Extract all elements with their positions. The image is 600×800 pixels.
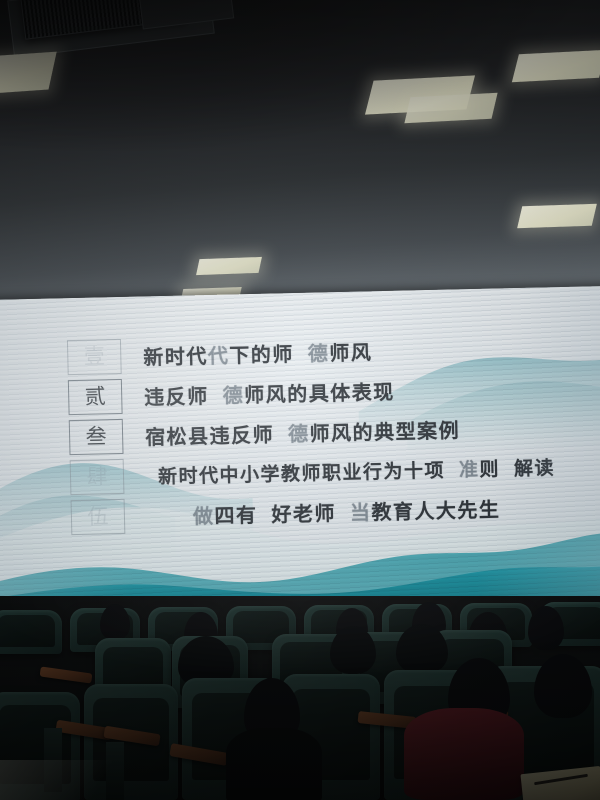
attendee-body [226, 728, 322, 800]
slide-item-number: 肆 [70, 459, 125, 495]
slide-item-number: 叁 [69, 419, 124, 455]
slide-item: 贰 违反师德师风的具体表现 [68, 373, 395, 415]
slide-item-text: 违反师德师风的具体表现 [144, 376, 395, 411]
ceiling-light-panel [512, 50, 600, 82]
attendee-head [534, 654, 592, 718]
slide-item: 肆 新时代中小学教师职业行为十项准则解读 [70, 449, 556, 495]
attendee-head [528, 606, 564, 650]
slide-item-text: 新时代代下的师德师风 [143, 336, 373, 370]
projection-screen: 壹 新时代代下的师德师风 贰 违反师德师风的具体表现 叁 宿松县违反师德师风的典… [0, 286, 600, 615]
auditorium-photo: 壹 新时代代下的师德师风 贰 违反师德师风的具体表现 叁 宿松县违反师德师风的典… [0, 0, 600, 800]
slide-item: 伍 做四有好老师当教育人大先生 [71, 490, 501, 535]
slide-content: 壹 新时代代下的师德师风 贰 违反师德师风的具体表现 叁 宿松县违反师德师风的典… [0, 286, 600, 615]
ceiling-light-panel [0, 52, 57, 95]
slide-item-text: 宿松县违反师德师风的典型案例 [145, 414, 461, 450]
slide-item-text: 做四有好老师当教育人大先生 [193, 493, 501, 529]
ceiling [0, 0, 600, 318]
ceiling-light-panel [196, 257, 262, 275]
slide-item: 壹 新时代代下的师德师风 [67, 333, 373, 375]
seat-armrest [40, 666, 93, 683]
seat [0, 610, 62, 654]
attendee-head [100, 604, 130, 640]
slide-item-number: 贰 [68, 379, 123, 415]
slide-item-number: 伍 [71, 499, 126, 535]
ceiling-light-panel [404, 93, 497, 123]
ceiling-light-panel [517, 204, 597, 229]
attendee-body-red [404, 708, 524, 800]
slide-item: 叁 宿松县违反师德师风的典型案例 [69, 411, 461, 455]
slide-item-number: 壹 [67, 339, 122, 375]
aisle-floor [0, 760, 140, 800]
slide-item-text: 新时代中小学教师职业行为十项准则解读 [158, 453, 556, 489]
